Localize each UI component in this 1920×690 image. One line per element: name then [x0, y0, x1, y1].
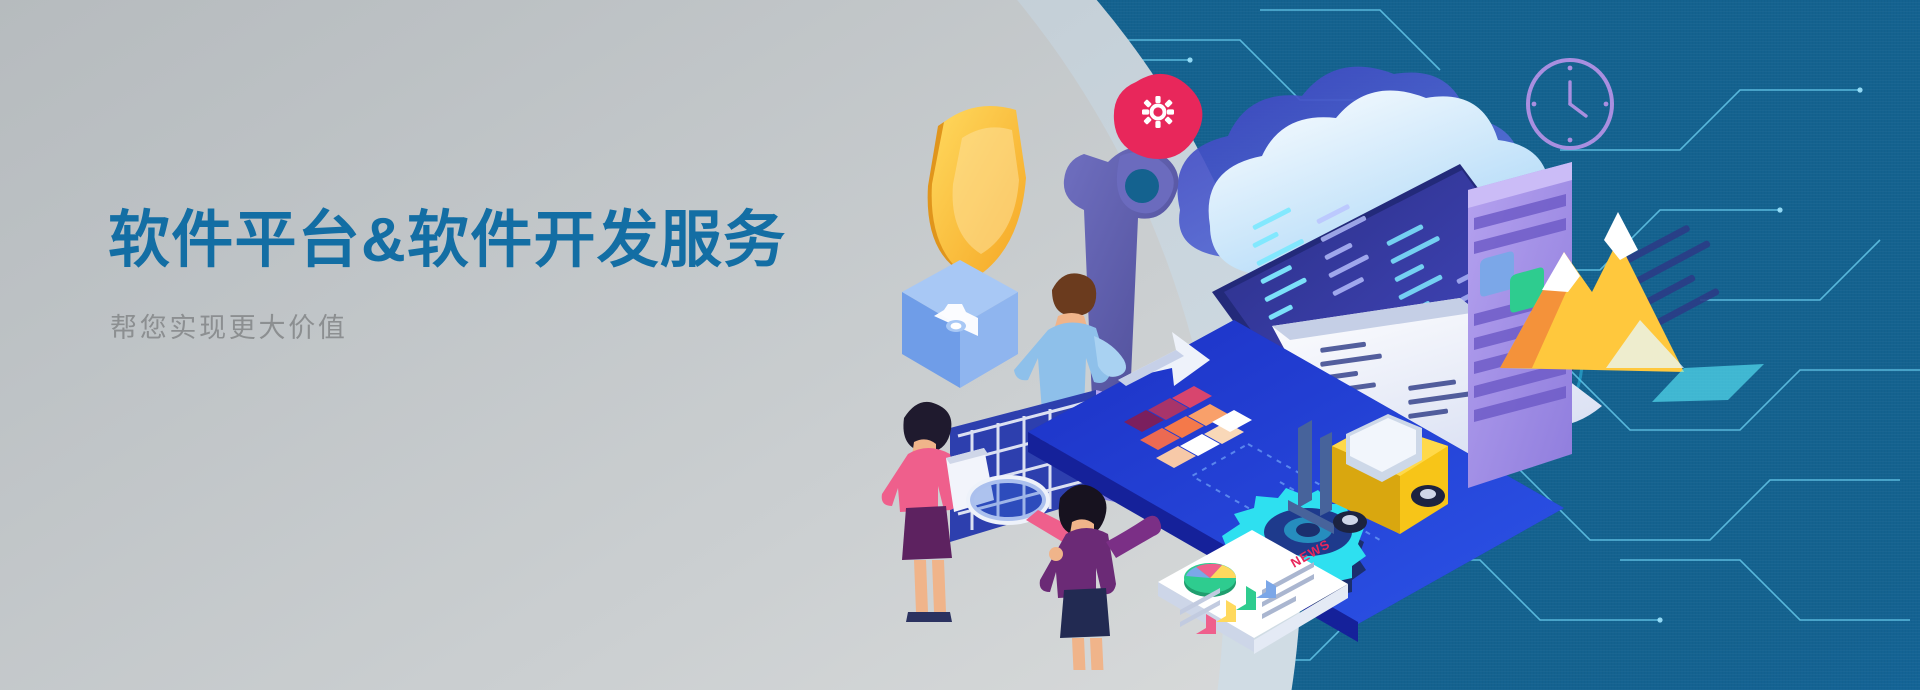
page-subtitle: 帮您实现更大价值: [110, 312, 828, 344]
banner-copy: 软件平台&软件开发服务 帮您实现更大价值: [108, 205, 828, 345]
news-card: NEWS: [1158, 530, 1348, 654]
camera-tile-icon: [902, 260, 1018, 388]
clock-icon: [1528, 60, 1612, 148]
hero-illustration: NEWS: [880, 30, 1920, 670]
page-title: 软件平台&软件开发服务: [108, 205, 828, 276]
security-shield-icon: [928, 106, 1026, 280]
gear-badge-icon: [1114, 74, 1203, 159]
hero-banner: NEWS 软件平台&软件开发服务 帮您实现更大价值: [0, 0, 1920, 690]
